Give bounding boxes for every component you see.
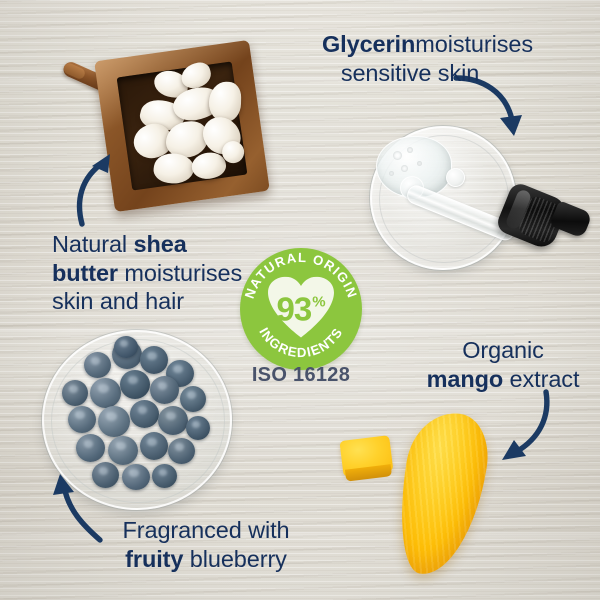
caption-mango-bold: mango [427,366,504,392]
badge-percent-number: 93 [276,293,311,326]
caption-shea-plain-2: moisturises [118,260,242,286]
caption-shea-plain-3: skin and hair [52,288,184,314]
caption-blueberry-bold: fruity [125,546,183,572]
caption-shea-bold-2: butter [52,260,118,286]
caption-shea-plain-1: Natural [52,231,134,257]
caption-mango-plain-2: extract [503,366,579,392]
caption-mango-plain-1: Organic [462,337,544,363]
shea-butter-chunks [112,56,252,196]
badge-percent-symbol: % [312,295,325,310]
badge-percentage: 93 % [276,293,325,326]
caption-shea-butter: Natural sheabutter moisturisesskin and h… [52,230,244,316]
mango-cube [339,435,394,487]
arrow-to-blueberry [50,472,110,544]
caption-blueberry-plain-2: blueberry [183,546,287,572]
natural-origin-badge: NATURAL ORIGIN INGREDIENTS 93 % [240,248,362,370]
mango-slice [390,407,495,581]
infographic-canvas: Glycerinmoisturises sensitive skin Natur… [0,0,600,600]
caption-mango: Organicmango extract [418,336,588,393]
caption-glycerin: Glycerinmoisturises sensitive skin [322,30,498,87]
caption-blueberry: Fragranced withfruity blueberry [104,516,308,573]
caption-shea-bold-1: shea [134,231,187,257]
arrow-to-mango [492,388,558,466]
arrow-to-shea-butter [70,150,126,228]
caption-blueberry-plain-1: Fragranced with [123,517,290,543]
iso-standard-label: ISO 16128 [240,364,362,387]
glycerin-droplet [446,168,465,187]
caption-glycerin-bold: Glycerin [322,31,415,57]
